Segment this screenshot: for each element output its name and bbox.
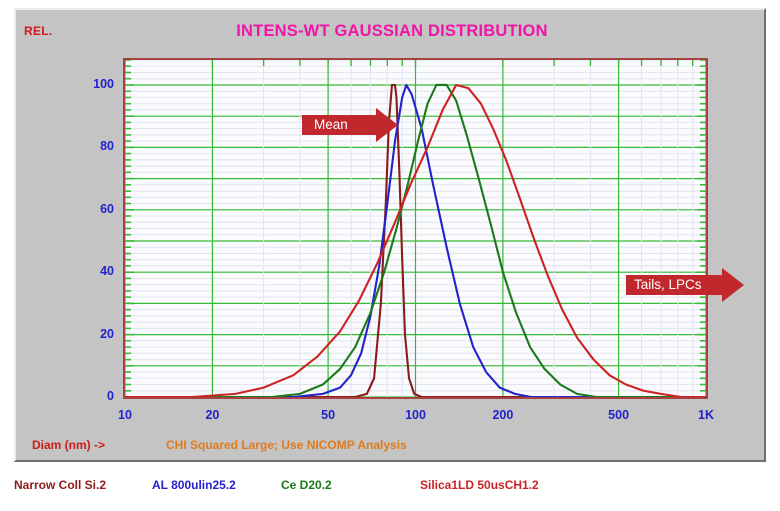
y-tick-label: 40 (74, 264, 114, 278)
legend-item: Ce D20.2 (281, 478, 332, 492)
x-tick-label: 20 (205, 408, 219, 422)
legend: Narrow Coll Si.2AL 800ulin25.2Ce D20.2Si… (0, 478, 780, 508)
x-tick-label: 50 (321, 408, 335, 422)
x-tick-label: 1K (698, 408, 714, 422)
legend-item: Silica1LD 50usCH1.2 (420, 478, 539, 492)
x-tick-label: 500 (608, 408, 629, 422)
chart-panel: REL. INTENS-WT GAUSSIAN DISTRIBUTION 020… (14, 8, 766, 462)
arrow-right-icon (376, 108, 398, 142)
analysis-note: CHI Squared Large; Use NICOMP Analysis (166, 438, 407, 452)
legend-item: AL 800ulin25.2 (152, 478, 236, 492)
x-axis-labels: 1020501002005001K (16, 408, 768, 428)
y-tick-label: 100 (74, 77, 114, 91)
x-axis-title: Diam (nm) -> (32, 438, 105, 452)
legend-item: Narrow Coll Si.2 (14, 478, 106, 492)
callout-tails-label: Tails, LPCs (634, 275, 702, 295)
arrow-right-icon (722, 268, 744, 302)
screenshot-root: REL. INTENS-WT GAUSSIAN DISTRIBUTION 020… (0, 0, 780, 511)
y-tick-label: 60 (74, 202, 114, 216)
plot-area (123, 58, 708, 399)
x-tick-label: 200 (492, 408, 513, 422)
plot-svg (125, 60, 706, 397)
callout-mean-label: Mean (314, 115, 348, 135)
x-tick-label: 10 (118, 408, 132, 422)
y-tick-label: 20 (74, 327, 114, 341)
y-tick-label: 0 (74, 389, 114, 403)
page-title: INTENS-WT GAUSSIAN DISTRIBUTION (16, 22, 768, 41)
y-tick-label: 80 (74, 139, 114, 153)
plot-inner (125, 60, 706, 397)
x-tick-label: 100 (405, 408, 426, 422)
